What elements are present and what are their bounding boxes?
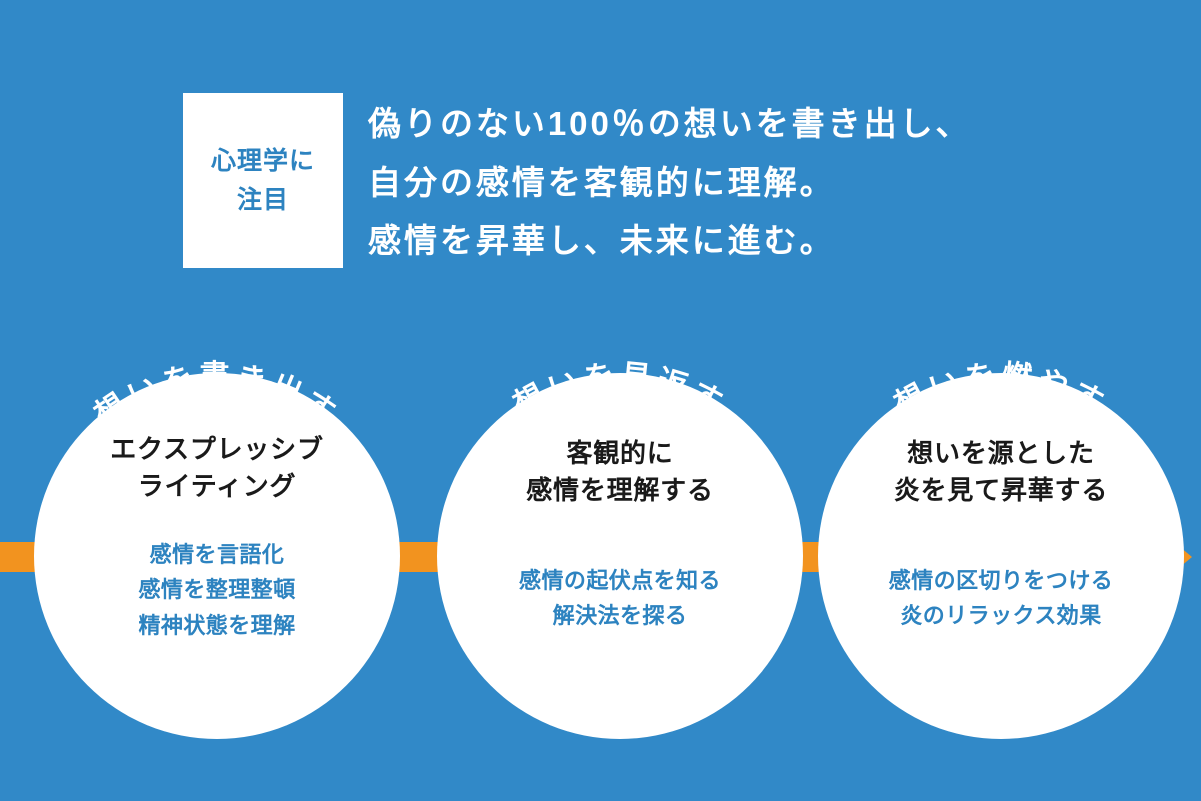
step-1-points: 感情を言語化 感情を整理整頓 精神状態を理解 xyxy=(138,537,295,644)
step-2-points: 感情の起伏点を知る 解決法を探る xyxy=(519,563,721,634)
flow-step-3: 想いを燃やす 想いを源とした 炎を見て昇華する 感情の区切りをつける 炎のリラッ… xyxy=(818,373,1184,739)
step-1-title-line-2: ライティング xyxy=(138,468,297,505)
flow-step-2: 想いを見返す 客観的に 感情を理解する 感情の起伏点を知る 解決法を探る xyxy=(437,373,803,739)
step-1-point-1: 感情を言語化 xyxy=(138,537,295,573)
headline-block: 偽りのない100％の想いを書き出し、 自分の感情を客観的に理解。 感情を昇華し、… xyxy=(368,95,1068,271)
step-2-title-line-1: 客観的に xyxy=(566,435,673,472)
step-3-point-2: 炎のリラックス効果 xyxy=(889,598,1113,634)
step-2-title-line-2: 感情を理解する xyxy=(526,472,713,509)
step-2-point-1: 感情の起伏点を知る xyxy=(519,563,721,599)
step-2-point-2: 解決法を探る xyxy=(519,598,721,634)
header-block: 心理学に 注目 偽りのない100％の想いを書き出し、 自分の感情を客観的に理解。… xyxy=(183,93,1083,273)
step-1-body: エクスプレッシブ ライティング 感情を言語化 感情を整理整頓 精神状態を理解 xyxy=(34,373,400,739)
flow-step-1: 想いを書き出す エクスプレッシブ ライティング 感情を言語化 感情を整理整頓 精… xyxy=(34,373,400,739)
infographic-canvas: 心理学に 注目 偽りのない100％の想いを書き出し、 自分の感情を客観的に理解。… xyxy=(0,0,1201,801)
headline-line-2: 自分の感情を客観的に理解。 xyxy=(368,154,1068,213)
step-3-points: 感情の区切りをつける 炎のリラックス効果 xyxy=(889,563,1113,634)
badge-line-2: 注目 xyxy=(237,181,289,220)
step-1-title-line-1: エクスプレッシブ xyxy=(110,431,323,468)
step-2-body: 客観的に 感情を理解する 感情の起伏点を知る 解決法を探る xyxy=(437,373,803,739)
step-1-point-2: 感情を整理整頓 xyxy=(138,572,295,608)
psychology-badge: 心理学に 注目 xyxy=(183,93,343,268)
step-3-title-line-2: 炎を見て昇華する xyxy=(894,472,1108,509)
step-3-title-line-1: 想いを源とした xyxy=(907,435,1094,472)
headline-line-3: 感情を昇華し、未来に進む。 xyxy=(368,212,1068,271)
step-3-body: 想いを源とした 炎を見て昇華する 感情の区切りをつける 炎のリラックス効果 xyxy=(818,373,1184,739)
step-3-point-1: 感情の区切りをつける xyxy=(889,563,1113,599)
headline-line-1: 偽りのない100％の想いを書き出し、 xyxy=(368,95,1068,154)
badge-line-1: 心理学に xyxy=(211,142,315,181)
step-1-point-3: 精神状態を理解 xyxy=(138,608,295,644)
